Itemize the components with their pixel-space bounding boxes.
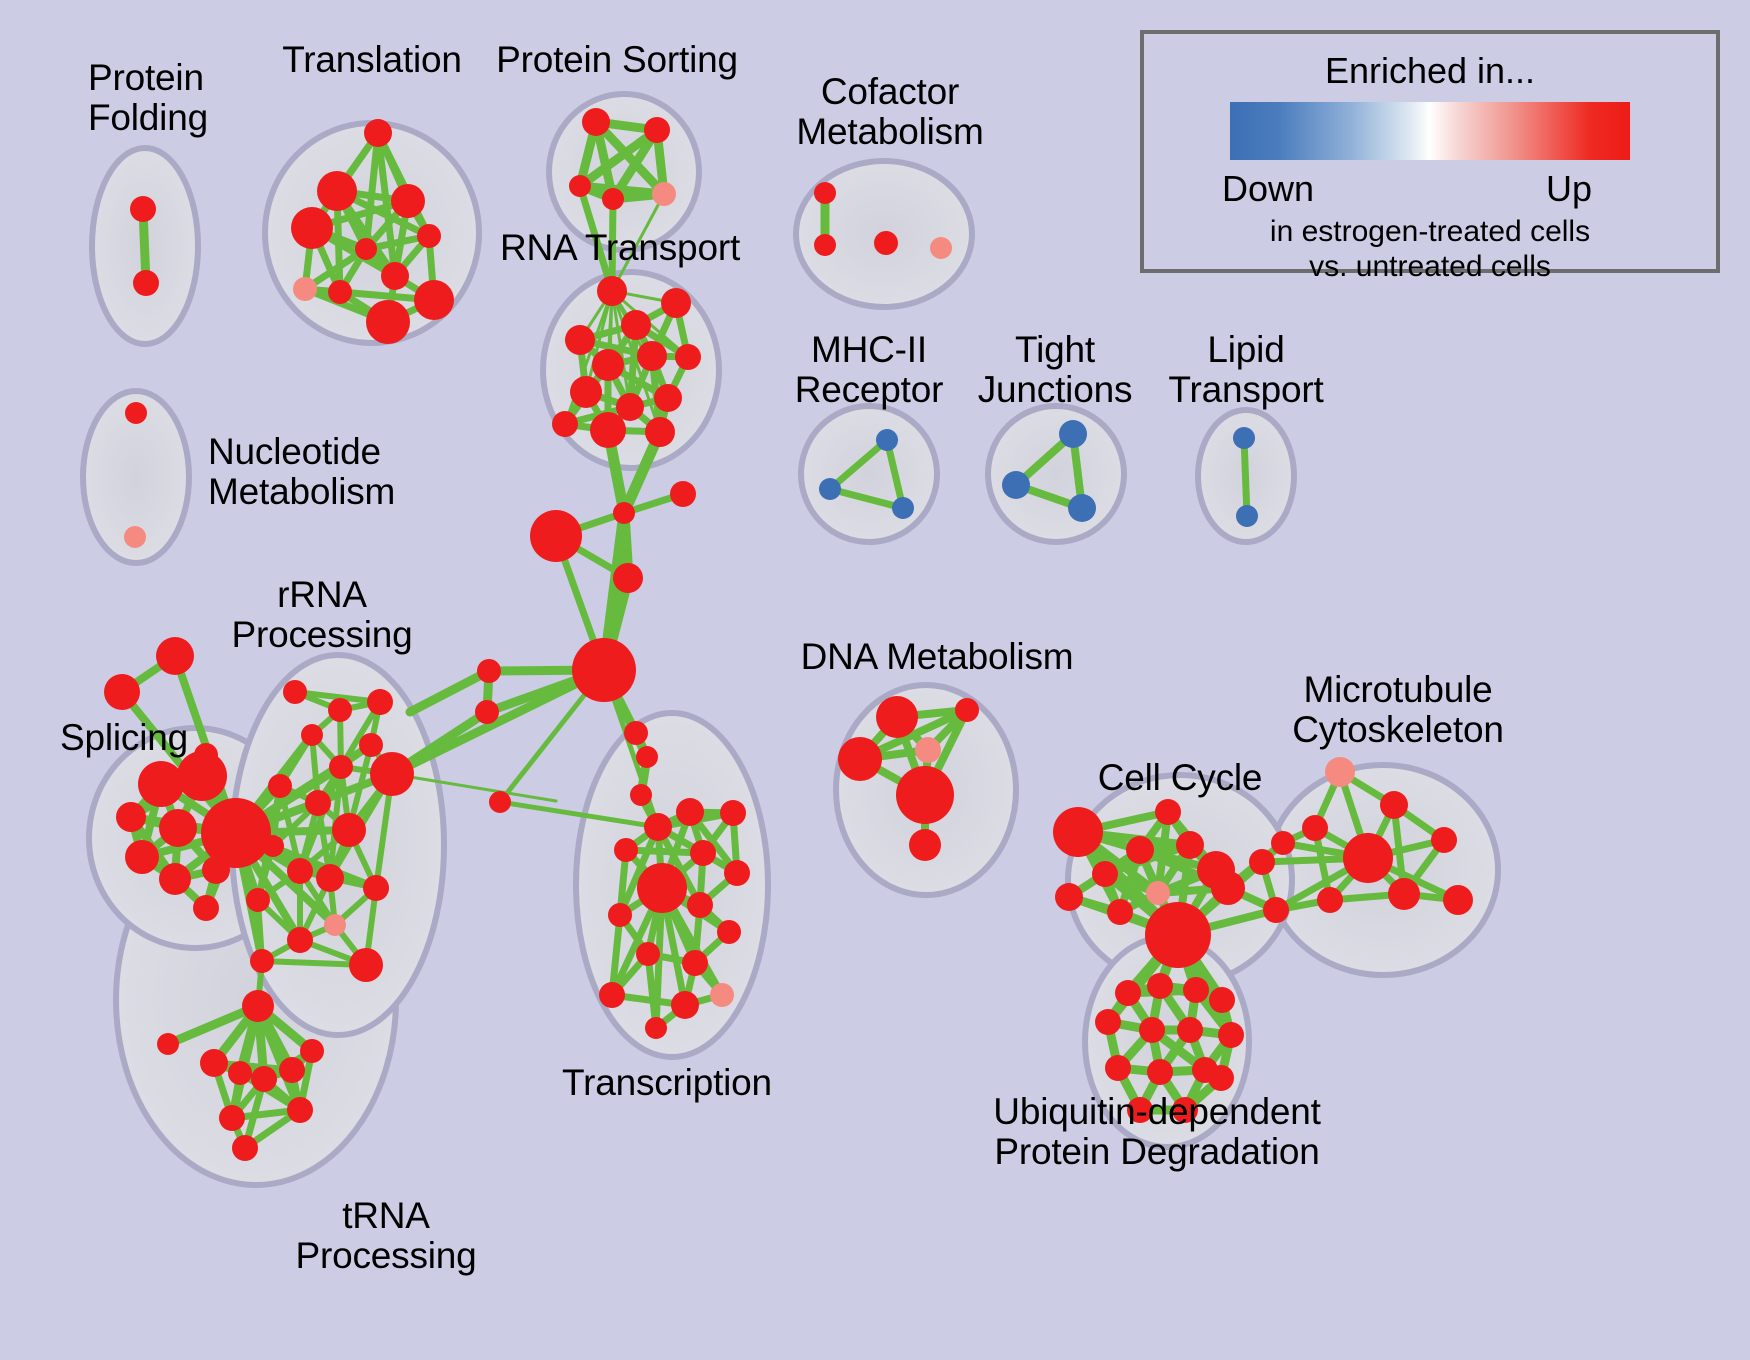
node	[1302, 815, 1328, 841]
node	[690, 840, 716, 866]
cluster-label-trna-processing: tRNA Processing	[295, 1196, 476, 1276]
node	[301, 724, 323, 746]
node	[328, 280, 352, 304]
cluster-label-rrna-processing: rRNA Processing	[231, 575, 412, 655]
node	[838, 737, 882, 781]
node	[572, 638, 636, 702]
cluster-label-lipid-transport: Lipid Transport	[1168, 330, 1323, 410]
node	[475, 700, 499, 724]
node	[177, 751, 227, 801]
node	[814, 182, 836, 204]
node	[156, 637, 194, 675]
node	[193, 895, 219, 921]
node	[246, 888, 270, 912]
node	[138, 761, 184, 807]
hull-mhc-ii	[801, 406, 937, 542]
node	[159, 809, 197, 847]
node	[1380, 791, 1408, 819]
node	[130, 196, 156, 222]
node	[1233, 427, 1255, 449]
node	[201, 798, 271, 868]
node	[125, 402, 147, 424]
node	[417, 224, 441, 248]
node	[670, 481, 696, 507]
node	[1218, 1022, 1244, 1048]
node	[1249, 849, 1275, 875]
legend-color-gradient-bar	[1230, 102, 1630, 160]
node	[367, 689, 393, 715]
node	[621, 310, 651, 340]
node	[116, 802, 146, 832]
node	[300, 1039, 324, 1063]
node-mid	[1146, 881, 1170, 905]
node	[489, 791, 511, 813]
cluster-label-cofactor-metabolism: Cofactor Metabolism	[796, 72, 983, 152]
node-mid	[710, 983, 734, 1007]
node	[414, 280, 454, 320]
node	[613, 563, 643, 593]
node	[1002, 471, 1030, 499]
node	[569, 175, 591, 197]
node	[599, 982, 625, 1008]
node	[565, 325, 595, 355]
node	[287, 1097, 313, 1123]
node	[636, 942, 660, 966]
node	[597, 276, 627, 306]
node	[1092, 861, 1118, 887]
node	[1147, 973, 1173, 999]
node	[364, 119, 392, 147]
node	[1053, 807, 1103, 857]
node	[814, 234, 836, 256]
node	[896, 766, 954, 824]
node	[645, 1017, 667, 1039]
node	[316, 864, 344, 892]
node	[317, 171, 357, 211]
node	[366, 300, 410, 344]
node	[359, 733, 383, 757]
node	[608, 903, 632, 927]
node	[1209, 987, 1235, 1013]
node	[1236, 505, 1258, 527]
node	[363, 875, 389, 901]
node	[283, 680, 307, 704]
node	[552, 411, 578, 437]
node	[819, 478, 841, 500]
node	[671, 991, 699, 1019]
node	[1095, 1009, 1121, 1035]
network-figure: Protein Folding Translation Protein Sort…	[0, 0, 1750, 1360]
node	[645, 417, 675, 447]
node	[717, 920, 741, 944]
legend-high-label: Up	[1546, 168, 1592, 210]
legend-caption: in estrogen-treated cells vs. untreated …	[1144, 214, 1716, 285]
node-mid	[915, 737, 941, 763]
node	[955, 698, 979, 722]
node	[157, 1033, 179, 1055]
node	[1126, 836, 1154, 864]
node	[250, 949, 274, 973]
node	[636, 746, 658, 768]
node	[391, 184, 425, 218]
cluster-label-microtubule: Microtubule Cytoskeleton	[1292, 670, 1504, 750]
cluster-label-protein-folding: Protein Folding	[88, 58, 208, 138]
node	[328, 698, 352, 722]
cluster-label-mhc-ii-receptor: MHC-II Receptor	[795, 330, 944, 410]
node	[332, 813, 366, 847]
node	[687, 892, 713, 918]
node	[1211, 871, 1245, 905]
node	[1263, 897, 1289, 923]
node	[661, 288, 691, 318]
node	[381, 262, 409, 290]
node-mid	[124, 526, 146, 548]
cluster-label-dna-metabolism: DNA Metabolism	[801, 637, 1074, 677]
node	[291, 207, 333, 249]
node	[125, 840, 159, 874]
node	[724, 860, 750, 886]
node	[349, 948, 383, 982]
node	[1147, 1059, 1173, 1085]
node	[1177, 1017, 1203, 1043]
legend-low-label: Down	[1222, 168, 1314, 210]
legend-box: Enriched in... Down Up in estrogen-treat…	[1140, 30, 1720, 273]
node	[654, 384, 682, 412]
cluster-label-ubiquitin: Ubiquitin-dependent Protein Degradation	[993, 1092, 1320, 1172]
node	[219, 1105, 245, 1131]
node	[644, 813, 672, 841]
node	[104, 674, 140, 710]
node	[1343, 833, 1393, 883]
node	[1388, 878, 1420, 910]
node	[590, 412, 626, 448]
node	[602, 188, 624, 210]
cluster-label-transcription: Transcription	[562, 1063, 772, 1103]
node	[637, 863, 687, 913]
node	[228, 1061, 252, 1085]
node	[876, 429, 898, 451]
node	[242, 990, 274, 1022]
node	[329, 755, 353, 779]
node	[1059, 420, 1087, 448]
node	[355, 238, 377, 260]
node	[676, 798, 704, 826]
node	[1107, 899, 1133, 925]
node	[159, 863, 191, 895]
cluster-label-cell-cycle: Cell Cycle	[1098, 758, 1263, 798]
node	[613, 502, 635, 524]
node	[637, 341, 667, 371]
cluster-label-rna-transport: RNA Transport	[500, 228, 740, 268]
node	[876, 696, 918, 738]
node	[1139, 1017, 1165, 1043]
cluster-label-splicing: Splicing	[60, 718, 188, 758]
node	[644, 117, 670, 143]
node-mid	[293, 277, 317, 301]
node	[305, 790, 331, 816]
node	[370, 752, 414, 796]
node	[477, 659, 501, 683]
cluster-label-nucleotide-metabolism: Nucleotide Metabolism	[208, 432, 395, 512]
cluster-label-tight-junctions: Tight Junctions	[978, 330, 1133, 410]
node	[1443, 885, 1473, 915]
node	[287, 858, 313, 884]
node	[251, 1066, 277, 1092]
node	[1431, 827, 1457, 853]
node	[530, 510, 582, 562]
node	[682, 950, 708, 976]
cluster-label-protein-sorting: Protein Sorting	[496, 40, 738, 80]
node	[200, 1049, 228, 1077]
node	[570, 376, 602, 408]
node	[262, 835, 284, 857]
node	[232, 1135, 258, 1161]
node	[279, 1057, 305, 1083]
node	[1068, 494, 1096, 522]
node	[720, 800, 746, 826]
node	[1317, 887, 1343, 913]
node	[1155, 799, 1181, 825]
node	[133, 270, 159, 296]
cluster-label-translation: Translation	[282, 40, 461, 80]
node	[582, 108, 610, 136]
node	[675, 344, 701, 370]
node	[1176, 831, 1204, 859]
node	[592, 349, 624, 381]
node	[1105, 1055, 1131, 1081]
node	[1055, 883, 1083, 911]
node	[1115, 980, 1141, 1006]
node	[892, 497, 914, 519]
node	[1145, 902, 1211, 968]
node	[287, 927, 313, 953]
node	[624, 721, 648, 745]
node	[1183, 977, 1209, 1003]
node	[614, 838, 638, 862]
legend-title: Enriched in...	[1144, 50, 1716, 92]
node-mid	[652, 182, 676, 206]
node	[630, 784, 652, 806]
node	[909, 829, 941, 861]
node-mid	[1325, 757, 1355, 787]
node	[1208, 1065, 1234, 1091]
node	[268, 774, 292, 798]
node-mid	[324, 914, 346, 936]
node	[874, 231, 898, 255]
node	[1271, 831, 1295, 855]
node-mid	[930, 237, 952, 259]
